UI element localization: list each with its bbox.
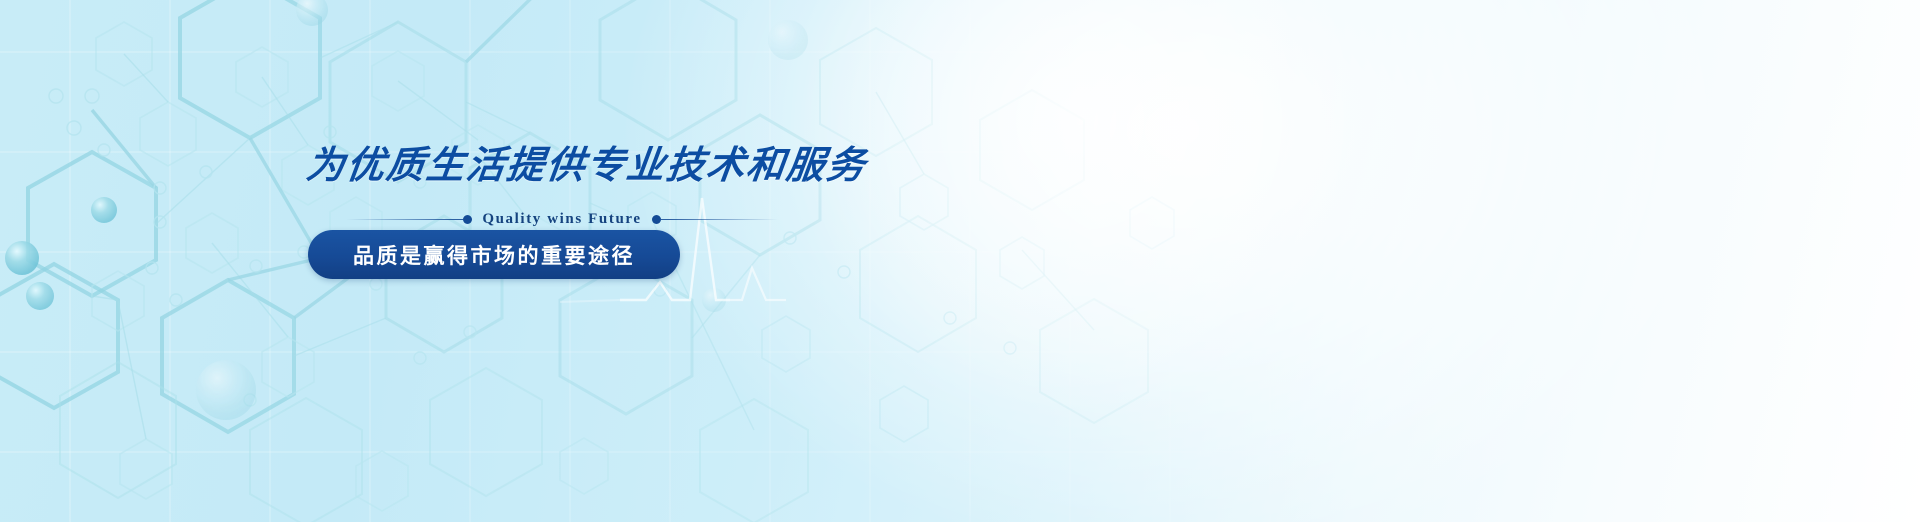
slogan-pill-button[interactable]: 品质是赢得市场的重要途径 — [308, 230, 680, 279]
dot-right-icon — [652, 215, 661, 224]
banner-text-block: 为优质生活提供专业技术和服务 Quality wins Future 品质是赢得… — [300, 112, 1000, 342]
english-tagline: Quality wins Future — [472, 211, 651, 228]
medical-hero-banner: 为优质生活提供专业技术和服务 Quality wins Future 品质是赢得… — [0, 0, 1920, 522]
divider-rule-right — [661, 219, 778, 220]
page-title: 为优质生活提供专业技术和服务 — [304, 134, 871, 189]
tagline-divider: Quality wins Future — [346, 208, 778, 230]
slogan-pill-label: 品质是赢得市场的重要途径 — [353, 240, 635, 270]
divider-rule-left — [346, 219, 463, 220]
dot-left-icon — [463, 215, 472, 224]
